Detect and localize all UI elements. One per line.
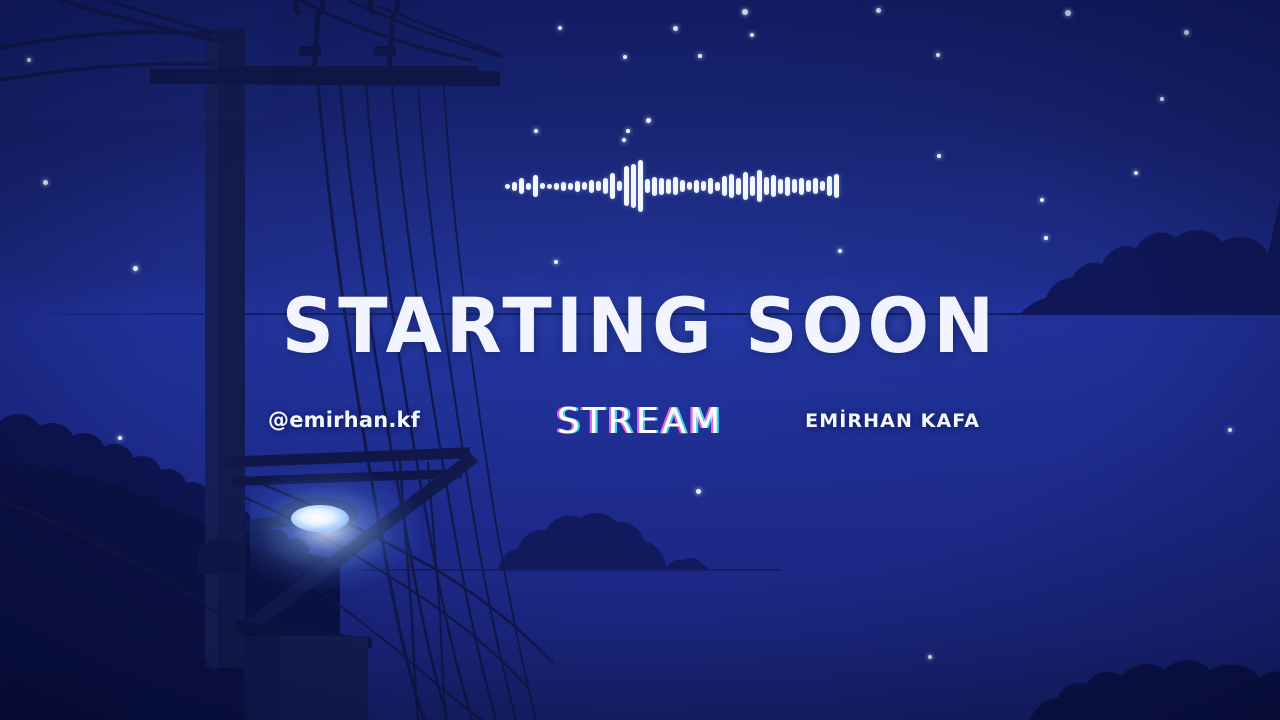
waveform-bar bbox=[750, 176, 755, 196]
waveform-bar bbox=[568, 183, 573, 190]
waveform-bar bbox=[624, 166, 629, 206]
waveform-bar bbox=[729, 174, 734, 198]
waveform-bar bbox=[512, 182, 517, 191]
waveform-bar bbox=[785, 177, 790, 196]
page-title: STARTING SOON bbox=[0, 288, 1280, 364]
waveform-bar bbox=[582, 182, 587, 190]
author-name: EMİRHAN KAFA bbox=[805, 410, 980, 432]
waveform-bar bbox=[813, 178, 818, 194]
rocks-bottom-right-silhouette bbox=[1030, 640, 1280, 720]
waveform-bar bbox=[806, 180, 811, 192]
pole-base-cap bbox=[198, 539, 246, 574]
stream-overlay-canvas: STARTING SOON @emirhan.kf STREAM STREAM … bbox=[0, 0, 1280, 720]
waveform-bar bbox=[701, 181, 706, 191]
subtitle-row: @emirhan.kf STREAM STREAM STREAM EMİRHAN… bbox=[0, 402, 1280, 442]
waveform-bar bbox=[673, 177, 678, 195]
waveform-bar bbox=[519, 178, 524, 194]
waveform-bar bbox=[820, 181, 825, 191]
waveform-bar bbox=[652, 177, 657, 196]
waveform-bar bbox=[694, 180, 699, 193]
shack-body-shade bbox=[244, 636, 280, 720]
audio-waveform bbox=[505, 160, 775, 212]
waveform-bar bbox=[827, 176, 832, 196]
waveform-bar bbox=[610, 173, 615, 199]
stream-label: STREAM STREAM STREAM bbox=[557, 402, 723, 442]
waveform-bar bbox=[547, 184, 552, 189]
crossarm-lower bbox=[225, 447, 470, 467]
waveform-bar bbox=[715, 182, 720, 191]
street-lamp-bulb bbox=[291, 505, 349, 532]
waveform-bar bbox=[736, 178, 741, 195]
waveform-bar bbox=[722, 176, 727, 196]
waveform-bar bbox=[589, 180, 594, 193]
waveform-bar bbox=[561, 182, 566, 191]
waveform-bar bbox=[757, 170, 762, 202]
waveform-bar bbox=[708, 178, 713, 194]
waveform-bar bbox=[533, 175, 538, 197]
waveform-bar bbox=[645, 179, 650, 193]
crossarm-lower-2 bbox=[232, 469, 462, 486]
waveform-bar bbox=[799, 178, 804, 195]
waveform-bar bbox=[575, 181, 580, 192]
waveform-bar bbox=[540, 183, 545, 189]
insulator-caps bbox=[299, 46, 396, 56]
horizon-line-mid bbox=[362, 569, 782, 571]
crossarm-long bbox=[150, 69, 500, 86]
waveform-bar bbox=[505, 184, 510, 189]
waveform-bar bbox=[603, 178, 608, 194]
waveform-bar bbox=[554, 183, 559, 190]
waveform-bar bbox=[596, 181, 601, 191]
stream-label-text: STREAM bbox=[557, 401, 723, 442]
waveform-bar bbox=[526, 183, 531, 190]
waveform-bar bbox=[680, 180, 685, 192]
waveform-bar bbox=[631, 164, 636, 208]
waveform-bar bbox=[792, 179, 797, 193]
waveform-bar bbox=[771, 175, 776, 197]
waveform-bar bbox=[617, 181, 622, 191]
waveform-bar bbox=[666, 179, 671, 194]
island-rock-small bbox=[666, 558, 709, 570]
waveform-bar bbox=[687, 182, 692, 190]
waveform-bar bbox=[638, 160, 643, 212]
waveform-bar bbox=[659, 178, 664, 195]
waveform-bar bbox=[764, 177, 769, 195]
waveform-bar bbox=[778, 179, 783, 194]
waveform-bar bbox=[834, 174, 839, 198]
waveform-bar bbox=[743, 172, 748, 200]
stream-label-wrapper: STREAM STREAM STREAM bbox=[0, 402, 1280, 442]
island-silhouette bbox=[498, 513, 672, 570]
